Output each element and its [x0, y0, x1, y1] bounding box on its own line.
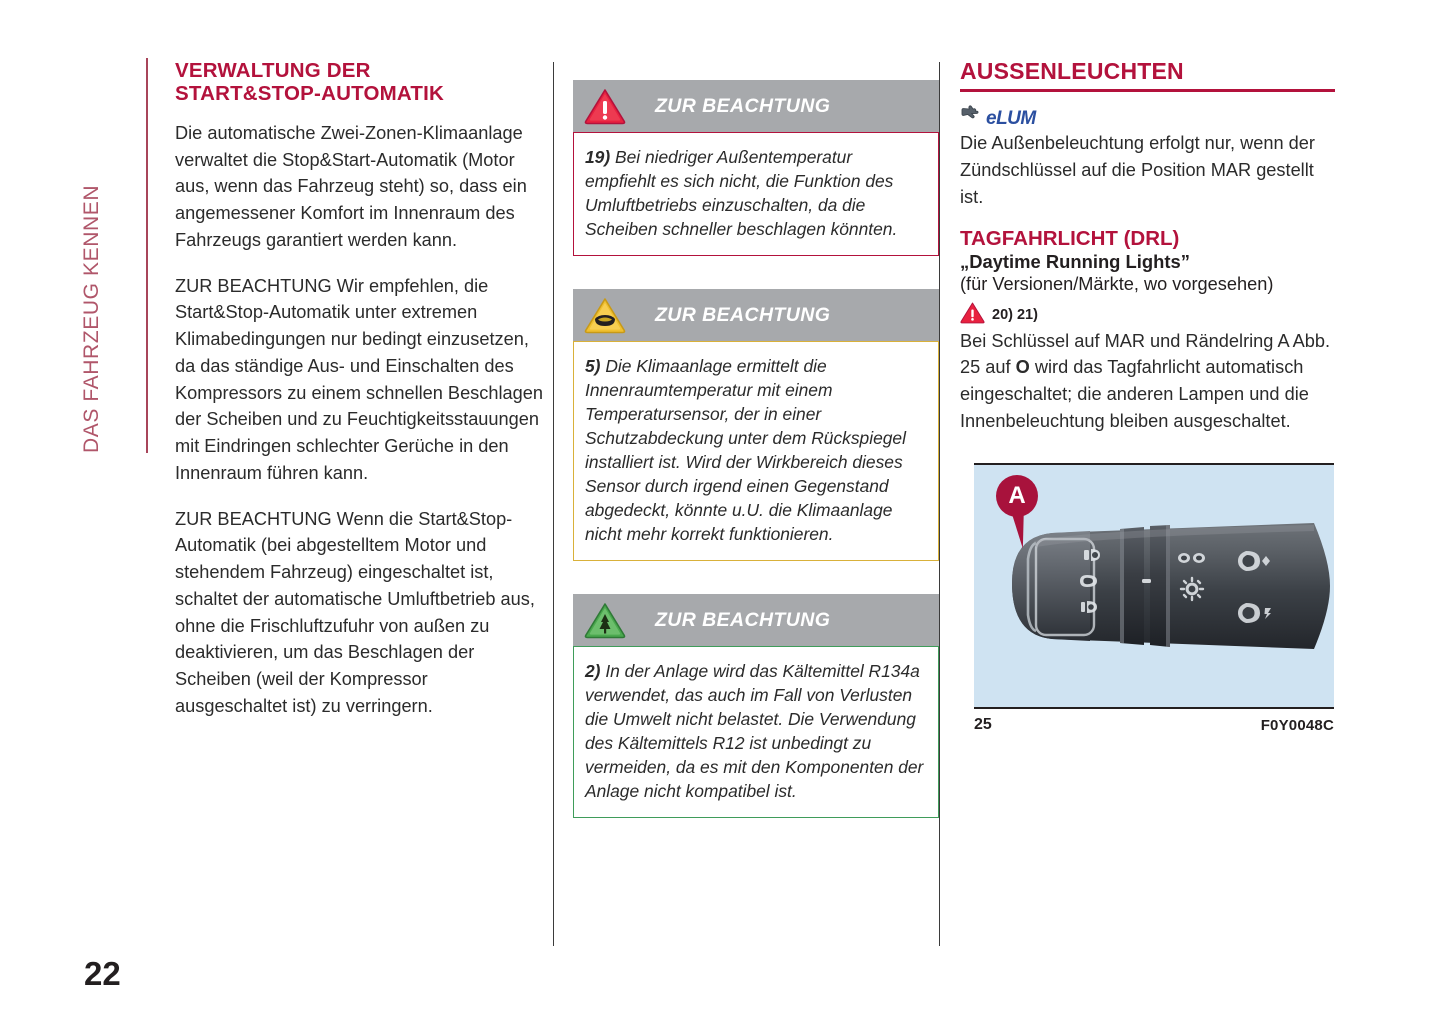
warning-triangle-red-icon: [579, 84, 631, 128]
drl-subtitle: „Daytime Running Lights”: [960, 251, 1335, 273]
elum-label: eLUM: [986, 109, 1036, 128]
figure-light-stalk: A: [974, 463, 1334, 734]
notice-ref: 5): [585, 356, 600, 376]
elum-reference: eLUM: [960, 102, 1335, 128]
column-divider-left: [553, 62, 554, 946]
page-title: AUSSENLEUCHTEN: [960, 58, 1335, 92]
chapter-tab-label: DAS FAHRZEUG KENNEN: [80, 185, 104, 453]
notice-ref: 2): [585, 661, 600, 681]
figure-image: A: [974, 465, 1334, 707]
warning-triangle-red-icon: [960, 301, 985, 329]
notice-header: ZUR BEACHTUNG: [573, 80, 939, 132]
figure-number: 25: [974, 716, 992, 734]
chapter-tab: DAS FAHRZEUG KENNEN: [104, 58, 148, 453]
environment-triangle-green-icon: [579, 598, 631, 642]
heading-line-2: START&STOP-AUTOMATIK: [175, 83, 543, 106]
left-paragraph-1: Die automatische Zwei-Zonen-Klimaanlage …: [175, 120, 543, 254]
notice-header: ZUR BEACHTUNG: [573, 594, 939, 646]
left-paragraph-3: ZUR BEACHTUNG Wenn die Start&Stop-Automa…: [175, 506, 543, 720]
right-column: AUSSENLEUCHTEN eLUM Die Außenbeleuchtung…: [960, 58, 1335, 435]
notice-header: ZUR BEACHTUNG: [573, 289, 939, 341]
left-column-heading: VERWALTUNG DER START&STOP-AUTOMATIK: [175, 60, 543, 106]
notice-title: ZUR BEACHTUNG: [655, 304, 830, 327]
callout-marker-a: A: [996, 475, 1038, 517]
figure-caption: 25 F0Y0048C: [974, 709, 1334, 734]
pointing-hand-icon: [960, 103, 985, 128]
notice-body: 19) Bei niedriger Außentemperatur empfie…: [573, 132, 939, 256]
notice-block: ZUR BEACHTUNG 2) In der Anlage wird das …: [573, 594, 939, 818]
middle-column: ZUR BEACHTUNG 19) Bei niedriger Außentem…: [573, 80, 939, 851]
column-divider-right: [939, 62, 940, 946]
left-paragraph-2: ZUR BEACHTUNG Wir empfehlen, die Start&S…: [175, 273, 543, 487]
notice-ref: 19): [585, 147, 610, 167]
notice-title: ZUR BEACHTUNG: [655, 95, 830, 118]
notice-text: In der Anlage wird das Kältemittel R134a…: [585, 661, 923, 801]
notice-block: ZUR BEACHTUNG 19) Bei niedriger Außentem…: [573, 80, 939, 256]
notice-body: 5) Die Klimaanlage ermittelt die Innenra…: [573, 341, 939, 561]
heading-line-1: VERWALTUNG DER: [175, 60, 543, 83]
right-intro-paragraph: Die Außenbeleuchtung erfolgt nur, wenn d…: [960, 130, 1335, 210]
notice-text: Die Klimaanlage ermittelt die Innenraumt…: [585, 356, 906, 544]
notice-body: 2) In der Anlage wird das Kältemittel R1…: [573, 646, 939, 818]
left-column: VERWALTUNG DER START&STOP-AUTOMATIK Die …: [175, 60, 543, 739]
body-text-bold: O: [1016, 357, 1030, 377]
drl-heading: TAGFAHRLICHT (DRL): [960, 228, 1335, 251]
warning-reference-line: 20) 21): [960, 302, 1335, 328]
notice-text: Bei niedriger Außentemperatur empfiehlt …: [585, 147, 897, 239]
notice-block: ZUR BEACHTUNG 5) Die Klimaanlage ermitte…: [573, 289, 939, 561]
drl-availability-note: (für Versionen/Märkte, wo vorgesehen): [960, 273, 1335, 296]
notice-title: ZUR BEACHTUNG: [655, 609, 830, 632]
figure-code: F0Y0048C: [1261, 717, 1334, 734]
right-body-paragraph: Bei Schlüssel auf MAR und Rändelring A A…: [960, 328, 1335, 435]
page-number: 22: [84, 955, 121, 993]
warning-triangle-yellow-icon: [579, 293, 631, 337]
footnote-refs: 20) 21): [992, 307, 1038, 323]
chapter-tab-rule: [146, 58, 148, 453]
